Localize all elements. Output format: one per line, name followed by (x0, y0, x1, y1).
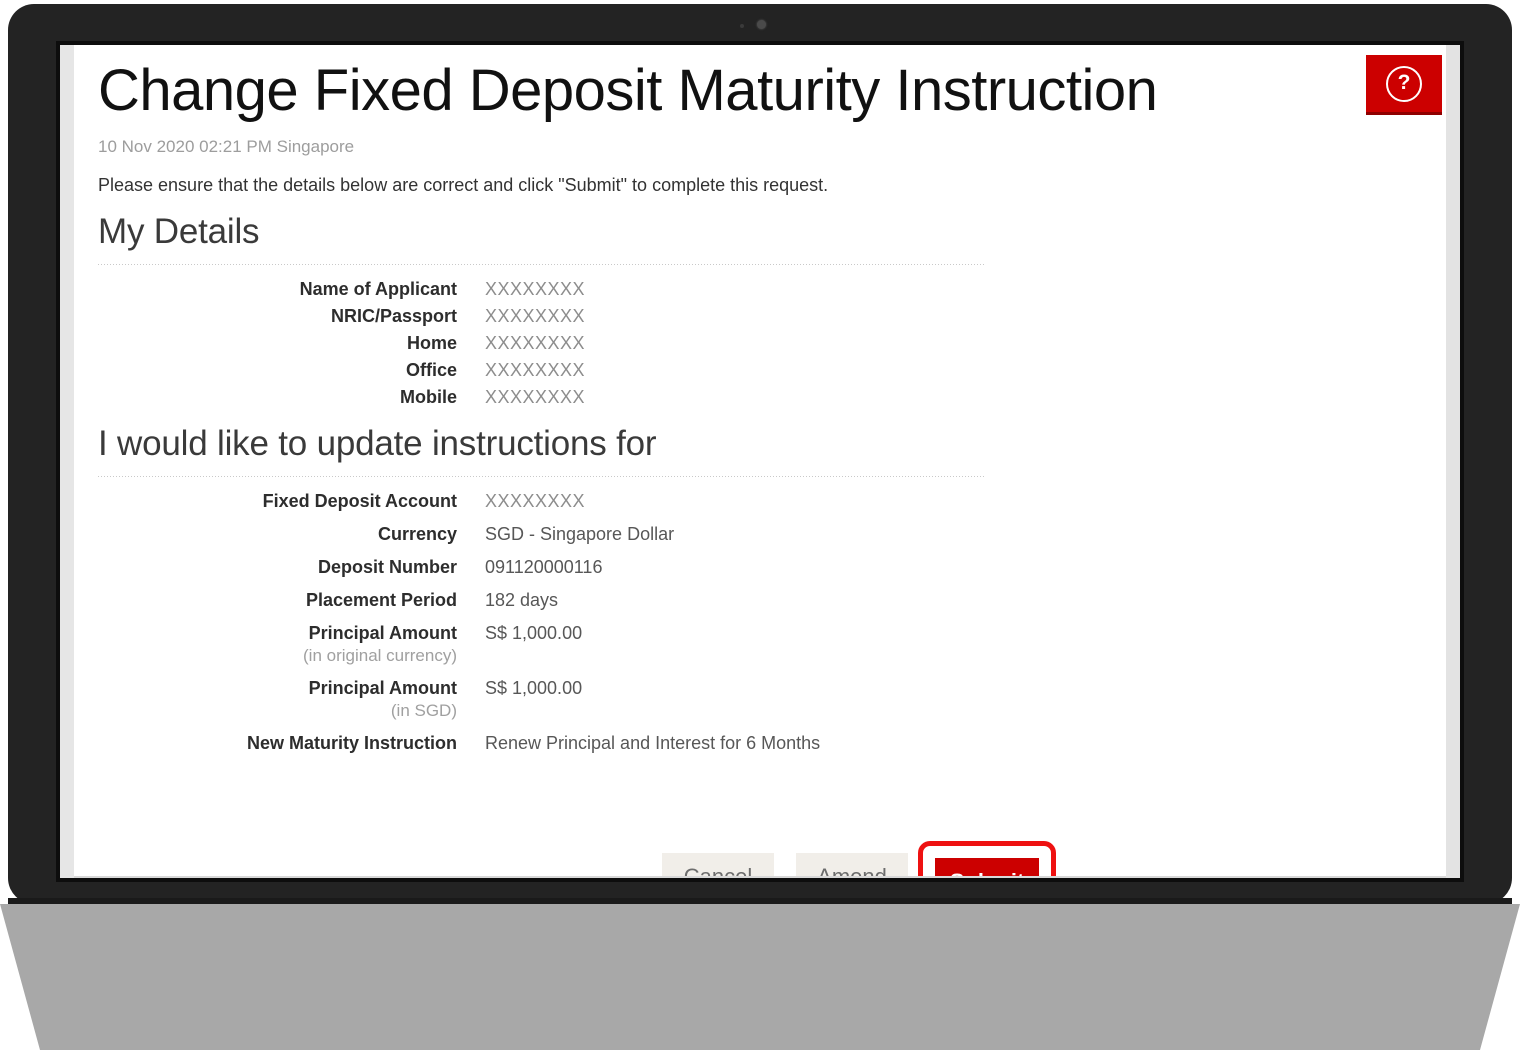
action-button-row: Cancel Amend Submit (98, 853, 1388, 878)
field-value: XXXXXXXX (485, 360, 585, 381)
instruction-text: Please ensure that the details below are… (98, 175, 1388, 196)
field-label: Fixed Deposit Account (98, 491, 485, 512)
field-sublabel: (in SGD) (98, 701, 485, 721)
field-label: Deposit Number (98, 557, 485, 578)
cancel-button[interactable]: Cancel (662, 853, 774, 878)
page-content: Change Fixed Deposit Maturity Instructio… (98, 45, 1388, 766)
deposit-field-list: Fixed Deposit Account XXXXXXXX Currency … (98, 491, 1388, 754)
field-label: Placement Period (98, 590, 485, 611)
field-label: NRIC/Passport (98, 306, 485, 327)
field-row: Office XXXXXXXX (98, 360, 1388, 381)
section-divider (98, 264, 986, 265)
field-row: Mobile XXXXXXXX (98, 387, 1388, 408)
field-value: 182 days (485, 590, 558, 611)
field-row: NRIC/Passport XXXXXXXX (98, 306, 1388, 327)
field-label: Principal Amount (98, 678, 485, 699)
field-row-sublabel: (in original currency) (98, 646, 1388, 666)
field-row: Deposit Number 091120000116 (98, 557, 1388, 578)
field-value: 091120000116 (485, 557, 602, 578)
field-row: Principal Amount S$ 1,000.00 (98, 678, 1388, 699)
laptop-base (0, 904, 1520, 1050)
page-body: ? Change Fixed Deposit Maturity Instruct… (74, 45, 1446, 878)
field-row: New Maturity Instruction Renew Principal… (98, 733, 1388, 754)
left-edge-strip (60, 45, 74, 878)
section-heading-my-details: My Details (98, 212, 1388, 252)
laptop-device-mockup: ? Change Fixed Deposit Maturity Instruct… (0, 0, 1520, 1050)
field-value: XXXXXXXX (485, 306, 585, 327)
field-row: Name of Applicant XXXXXXXX (98, 279, 1388, 300)
field-label: Name of Applicant (98, 279, 485, 300)
field-value: XXXXXXXX (485, 279, 585, 300)
field-label: Currency (98, 524, 485, 545)
camera-led-indicator (740, 24, 744, 28)
field-label: New Maturity Instruction (98, 733, 485, 754)
field-value: XXXXXXXX (485, 387, 585, 408)
field-row: Currency SGD - Singapore Dollar (98, 524, 1388, 545)
field-value: S$ 1,000.00 (485, 623, 582, 644)
timestamp: 10 Nov 2020 02:21 PM Singapore (98, 137, 1388, 157)
field-label: Mobile (98, 387, 485, 408)
field-value: XXXXXXXX (485, 333, 585, 354)
field-row: Fixed Deposit Account XXXXXXXX (98, 491, 1388, 512)
section-divider (98, 476, 986, 477)
page-scrollbar[interactable] (1446, 45, 1460, 878)
field-value: Renew Principal and Interest for 6 Month… (485, 733, 820, 754)
field-value: SGD - Singapore Dollar (485, 524, 674, 545)
field-value: XXXXXXXX (485, 491, 585, 512)
field-row: Placement Period 182 days (98, 590, 1388, 611)
submit-button[interactable]: Submit (935, 858, 1039, 878)
field-row-sublabel: (in SGD) (98, 701, 1388, 721)
webcam-icon (757, 20, 766, 29)
field-label: Office (98, 360, 485, 381)
field-label: Principal Amount (98, 623, 485, 644)
my-details-field-list: Name of Applicant XXXXXXXX NRIC/Passport… (98, 279, 1388, 408)
submit-highlight-annotation: Submit (918, 841, 1056, 878)
field-value: S$ 1,000.00 (485, 678, 582, 699)
question-mark-circle-icon: ? (1386, 66, 1422, 102)
field-label: Home (98, 333, 485, 354)
page-bottom-rule (74, 876, 1446, 878)
amend-button[interactable]: Amend (796, 853, 908, 878)
section-heading-update-instructions: I would like to update instructions for (98, 424, 1388, 464)
field-row: Principal Amount S$ 1,000.00 (98, 623, 1388, 644)
field-sublabel: (in original currency) (98, 646, 485, 666)
page-title: Change Fixed Deposit Maturity Instructio… (98, 45, 1388, 124)
browser-viewport: ? Change Fixed Deposit Maturity Instruct… (60, 45, 1460, 878)
field-row: Home XXXXXXXX (98, 333, 1388, 354)
